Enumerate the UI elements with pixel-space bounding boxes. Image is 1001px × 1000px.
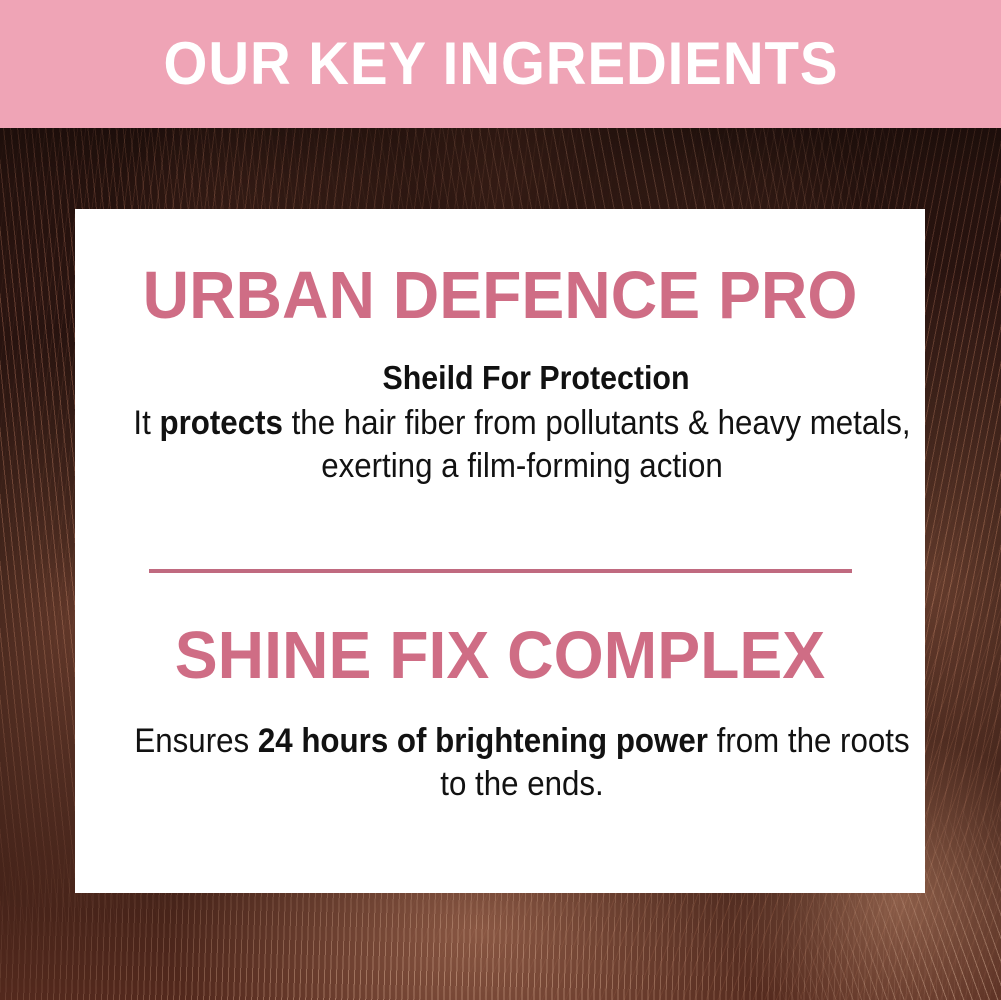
page-title: OUR KEY INGREDIENTS xyxy=(163,34,838,94)
ingredients-card: URBAN DEFENCE PRO Sheild For Protection … xyxy=(75,209,925,893)
ingredient-2-description: Ensures 24 hours of brightening power fr… xyxy=(131,720,913,806)
ingredient-1-name: URBAN DEFENCE PRO xyxy=(92,262,908,329)
section-divider xyxy=(149,569,852,573)
desc-1-suffix: the hair fiber from pollutants & heavy m… xyxy=(283,404,911,485)
header-band: OUR KEY INGREDIENTS xyxy=(0,0,1001,128)
desc-1-highlight: protects xyxy=(160,404,283,442)
ingredient-1-subtitle: Sheild For Protection xyxy=(145,359,927,398)
ingredient-1-description: It protects the hair fiber from pollutan… xyxy=(131,402,913,488)
ingredient-2-name: SHINE FIX COMPLEX xyxy=(92,622,908,689)
desc-2-highlight: 24 hours of brightening power xyxy=(258,722,708,760)
desc-1-prefix: It xyxy=(133,404,159,442)
ingredient-2-description-wrap: Ensures 24 hours of brightening power fr… xyxy=(97,720,947,806)
section-divider-wrap xyxy=(75,569,925,573)
desc-2-prefix: Ensures xyxy=(134,722,257,760)
ingredient-1-section: URBAN DEFENCE PRO xyxy=(75,262,925,329)
ingredient-1-description-wrap: It protects the hair fiber from pollutan… xyxy=(97,402,947,488)
ingredient-1-subtitle-wrap: Sheild For Protection xyxy=(111,359,961,398)
ingredient-2-section: SHINE FIX COMPLEX xyxy=(75,622,925,689)
ingredient-infographic: OUR KEY INGREDIENTS URBAN DEFENCE PRO Sh… xyxy=(0,0,1001,1000)
